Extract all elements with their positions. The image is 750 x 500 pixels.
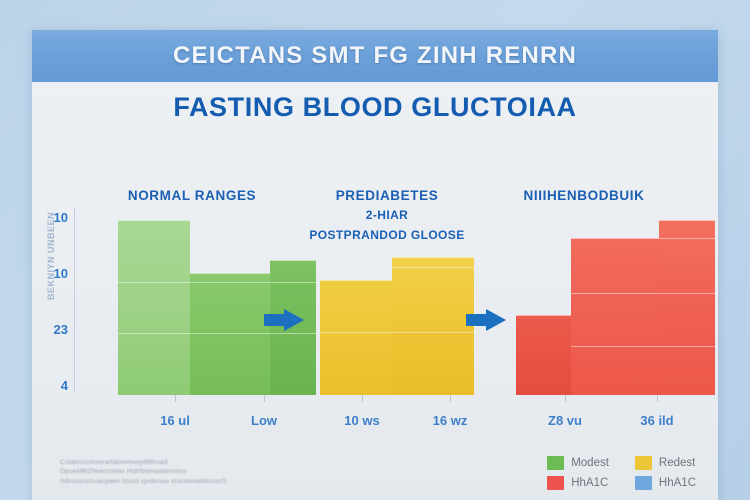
infographic-card: CEICTANS SMT FG ZINH RENRN FASTING BLOOD… <box>32 30 718 500</box>
bar-prediabetes-2 <box>392 257 474 395</box>
x-tick-prediabetes-1: 16 wz <box>433 413 468 428</box>
arrow-right-icon-1 <box>264 308 306 332</box>
arrow-right-icon-2 <box>466 308 508 332</box>
bar-normal-1 <box>118 220 190 395</box>
y-axis-label: BEKNIYN UNBEEN <box>46 212 56 300</box>
x-tick-diabetes-0: Z8 vu <box>548 413 582 428</box>
legend-label-modest: Modest <box>571 457 609 469</box>
y-tick-1: 10 <box>40 266 68 281</box>
bar-diabetes-2 <box>571 238 659 395</box>
legend-item-modest[interactable]: Modest <box>547 456 609 470</box>
panel-title-diabetes: NIIIHENBODBUIK <box>524 188 645 203</box>
panel-subtitle-prediabetes-line1: 2-HIAR <box>366 208 408 222</box>
bar-prediabetes-1 <box>320 280 392 395</box>
legend-label-hba1c-red: HhA1C <box>571 477 608 489</box>
y-axis-line <box>74 208 75 393</box>
y-tick-3: 4 <box>40 378 68 393</box>
bar-normal-2 <box>190 273 270 395</box>
panel-title-normal-ranges: NORMAL RANGES <box>128 188 256 203</box>
chart-legend: Modest Redest HhA1C HhA1C <box>547 456 696 490</box>
bar-diabetes-1 <box>516 315 571 395</box>
header-band: CEICTANS SMT FG ZINH RENRN <box>32 30 718 82</box>
footnote-line-3: Sdrousrocruaoyaen tovcd spcbrouo otscaon… <box>60 477 360 487</box>
legend-label-redest: Redest <box>659 457 695 469</box>
header-banner-text: CEICTANS SMT FG ZINH RENRN <box>173 42 577 70</box>
legend-item-redest[interactable]: Redest <box>635 456 696 470</box>
bar-group-prediabetes <box>320 257 474 395</box>
legend-swatch-hba1c-blue <box>635 476 652 490</box>
x-tick-normal-1: Low <box>251 413 277 428</box>
legend-swatch-modest <box>547 456 564 470</box>
panel-title-prediabetes: PREDIABETES <box>336 188 439 203</box>
footnote-block: Cstatocsrntzerartalonmseyd99rnaS OpoekMI… <box>60 458 360 487</box>
y-tick-0: 10 <box>40 210 68 225</box>
legend-item-hba1c-red[interactable]: HhA1C <box>547 476 609 490</box>
chart-plot-area: BEKNIYN UNBEEN 10 10 23 4 NORMAL RANGES … <box>32 180 718 450</box>
x-tick-prediabetes-0: 10 ws <box>344 413 379 428</box>
x-tick-diabetes-1: 36 ild <box>640 413 673 428</box>
bar-diabetes-3 <box>659 220 715 395</box>
legend-label-hba1c-blue: HhA1C <box>659 477 696 489</box>
bar-group-diabetes <box>516 220 715 395</box>
y-tick-2: 23 <box>40 322 68 337</box>
x-tick-normal-0: 16 ul <box>160 413 190 428</box>
footnote-line-2: OpoekMIZlleactovtas rhdrtbomastanrotso <box>60 467 360 477</box>
page-title: FASTING BLOOD GLUCTOIAA <box>32 92 718 123</box>
legend-swatch-redest <box>635 456 652 470</box>
legend-swatch-hba1c-red <box>547 476 564 490</box>
footnote-line-1: Cstatocsrntzerartalonmseyd99rnaS <box>60 458 360 468</box>
legend-item-hba1c-blue[interactable]: HhA1C <box>635 476 696 490</box>
panel-subtitle-prediabetes-line2: POSTPRANDOD GLOOSE <box>309 228 464 242</box>
